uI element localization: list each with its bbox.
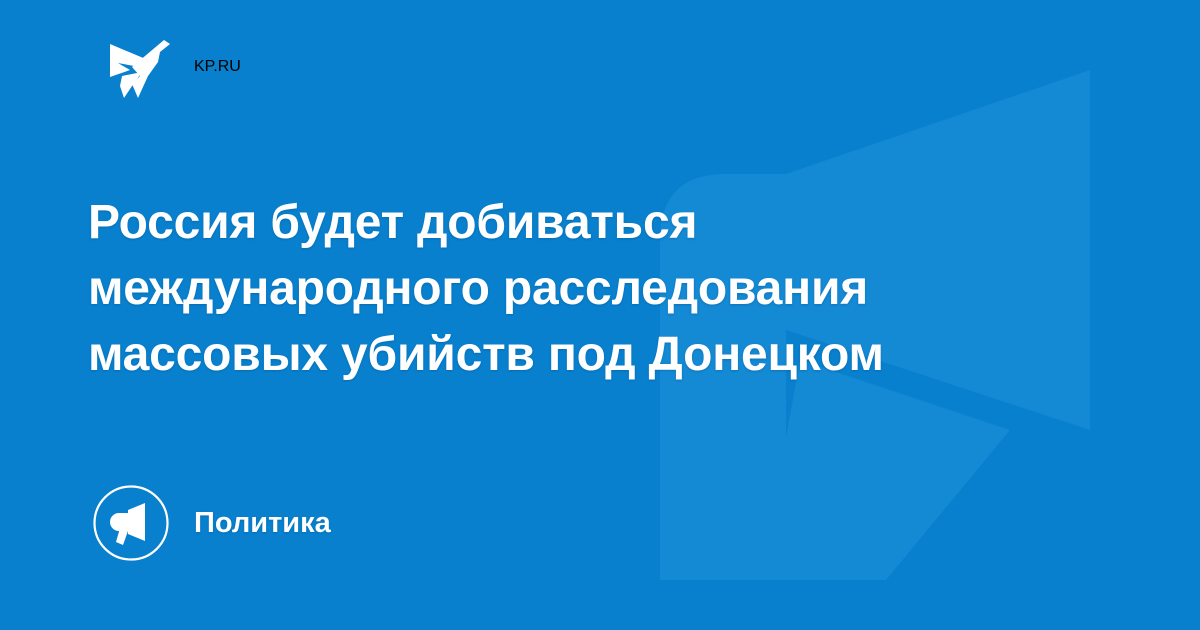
headline-line-1: Россия будет добиваться: [88, 190, 1078, 256]
megaphone-icon: [92, 484, 170, 562]
social-share-card: KP.RU Россия будет добиваться международ…: [0, 0, 1200, 630]
headline-line-2: международного расследования: [88, 256, 1078, 322]
rubric-icon-circle: [92, 484, 170, 562]
rubric-badge[interactable]: Политика: [92, 484, 331, 562]
headline-line-3: массовых убийств под Донецком: [88, 322, 1078, 388]
swallow-bird-icon: [108, 36, 172, 98]
brand-wordmark: KP.RU: [194, 58, 241, 76]
site-header: KP.RU: [108, 36, 241, 98]
headline: Россия будет добиваться международного р…: [88, 190, 1078, 388]
rubric-label: Политика: [194, 509, 331, 538]
